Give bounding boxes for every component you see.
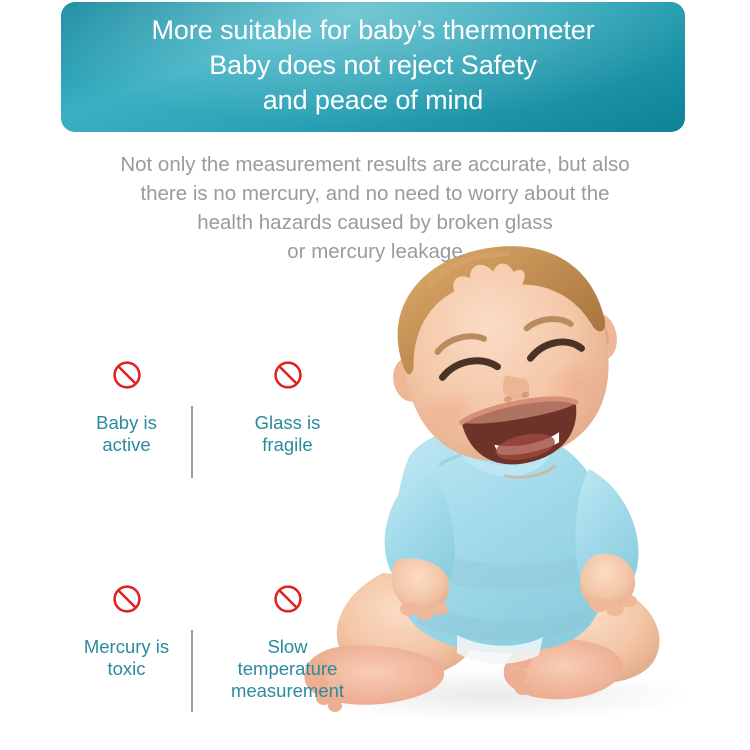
feature-label: Baby is active: [96, 412, 157, 456]
subtitle-line-3: health hazards caused by broken glass: [0, 208, 750, 237]
subtitle-paragraph: Not only the measurement results are acc…: [0, 150, 750, 266]
subtitle-line-4: or mercury leakage: [0, 237, 750, 266]
feature-list: Baby is active Glass is fragile: [62, 360, 352, 702]
feature-row-1: Baby is active Glass is fragile: [62, 360, 352, 456]
feature-divider: [191, 630, 193, 712]
prohibition-icon: [273, 360, 303, 390]
subtitle-line-1: Not only the measurement results are acc…: [0, 150, 750, 179]
prohibition-icon: [112, 360, 142, 390]
feature-label: Glass is fragile: [255, 412, 321, 456]
feature-item-baby-is-active: Baby is active: [62, 360, 191, 456]
subtitle-line-2: there is no mercury, and no need to worr…: [0, 179, 750, 208]
feature-label: Slow temperature measurement: [231, 636, 344, 702]
feature-item-slow-temperature-measurement: Slow temperature measurement: [223, 584, 352, 702]
promo-page: More suitable for baby’s thermometer Bab…: [0, 0, 750, 750]
feature-item-mercury-is-toxic: Mercury is toxic: [62, 584, 191, 680]
prohibition-icon: [273, 584, 303, 614]
feature-row-2: Mercury is toxic Slow temperature measur…: [62, 584, 352, 702]
banner-line-3: and peace of mind: [263, 83, 483, 118]
banner-line-2: Baby does not reject Safety: [209, 48, 537, 83]
header-banner: More suitable for baby’s thermometer Bab…: [61, 2, 685, 132]
feature-item-glass-is-fragile: Glass is fragile: [223, 360, 352, 456]
banner-line-1: More suitable for baby’s thermometer: [151, 13, 594, 48]
prohibition-icon: [112, 584, 142, 614]
feature-label: Mercury is toxic: [84, 636, 169, 680]
feature-divider: [191, 406, 193, 478]
